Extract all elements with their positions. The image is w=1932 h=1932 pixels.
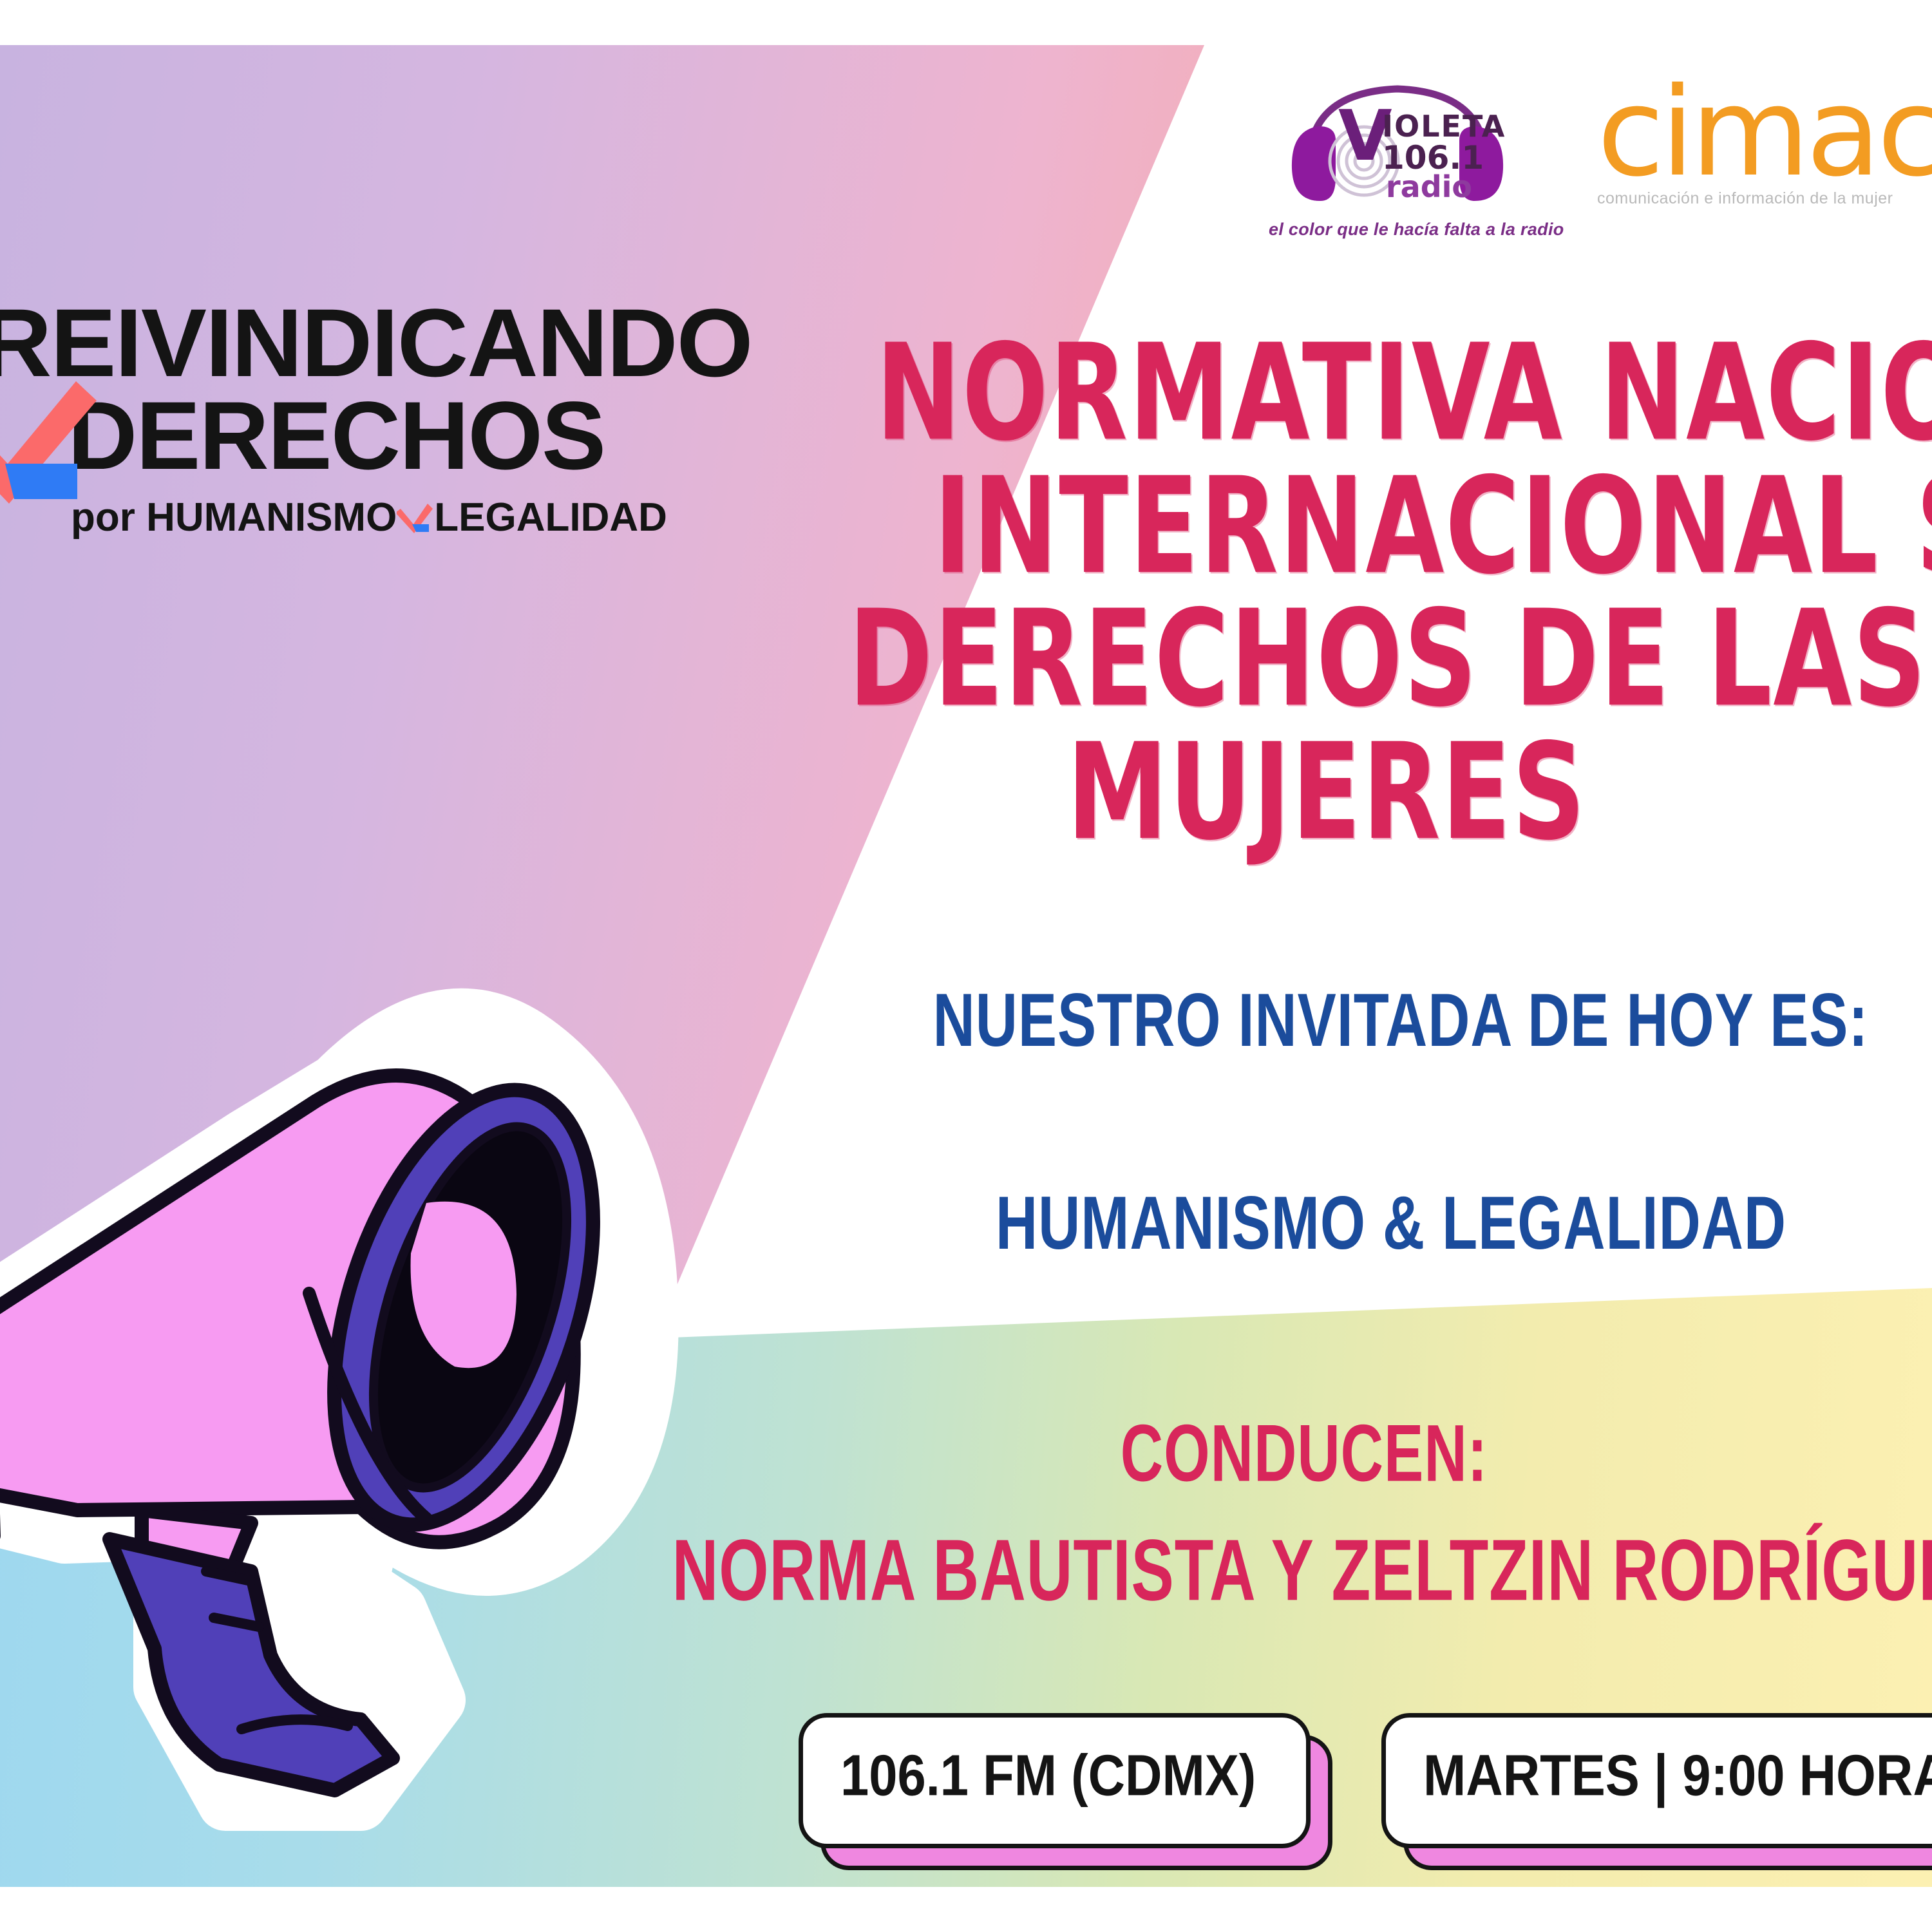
violeta-headphones-icon: V IOLETA 106.1 radio bbox=[1269, 64, 1526, 213]
guest-section: NUESTRO INVITADA DE HOY ES: HUMANISMO & … bbox=[927, 985, 1932, 1259]
poster-canvas: REIVINDICANDO DERECHOS por HUMANISMO LEG… bbox=[0, 0, 1932, 1932]
broadcast-badges: 106.1 FM (CDMX) MARTES | 9:00 HORAS bbox=[799, 1713, 1932, 1848]
badge-schedule-wrap: MARTES | 9:00 HORAS bbox=[1381, 1713, 1932, 1848]
main-title: NORMATIVA NACIONAL E INTERNACIONAL SOBRE… bbox=[914, 316, 1932, 848]
program-logo-ampersand-icon bbox=[397, 495, 434, 540]
hosts-names: NORMA BAUTISTA Y ZELTZIN RODRÍGUEZ bbox=[672, 1519, 1911, 1620]
badge-schedule[interactable]: MARTES | 9:00 HORAS bbox=[1381, 1713, 1932, 1848]
program-logo-subtitle-prefix: por HUMANISMO bbox=[71, 495, 397, 540]
badge-schedule-text: MARTES | 9:00 HORAS bbox=[1423, 1743, 1932, 1809]
svg-text:IOLETA: IOLETA bbox=[1382, 109, 1506, 144]
background-white-bottom-strip bbox=[0, 1887, 1932, 1932]
cimac-logo: cimac comunicación e información de la m… bbox=[1597, 64, 1932, 208]
program-logo-subtitle-suffix: LEGALIDAD bbox=[434, 495, 667, 540]
violeta-radio-logo: V IOLETA 106.1 radio el color que le hac… bbox=[1269, 64, 1526, 240]
sponsor-logos: V IOLETA 106.1 radio el color que le hac… bbox=[1269, 64, 1932, 240]
badge-frequency-wrap: 106.1 FM (CDMX) bbox=[799, 1713, 1311, 1848]
title-line-4: MUJERES bbox=[644, 715, 1932, 872]
cimac-wordmark: cimac bbox=[1597, 82, 1932, 183]
hosts-section: CONDUCEN: NORMA BAUTISTA Y ZELTZIN RODRÍ… bbox=[644, 1417, 1932, 1610]
guest-label: NUESTRO INVITADA DE HOY ES: bbox=[902, 978, 1900, 1064]
badge-frequency[interactable]: 106.1 FM (CDMX) bbox=[799, 1713, 1311, 1848]
program-logo-line1: REIVINDICANDO bbox=[0, 296, 749, 389]
violeta-tagline: el color que le hacía falta a la radio bbox=[1269, 220, 1526, 240]
megaphone-illustration-icon bbox=[0, 889, 708, 1842]
guest-name: HUMANISMO & LEGALIDAD bbox=[882, 1180, 1899, 1267]
program-logo-subtitle: por HUMANISMO LEGALIDAD bbox=[71, 495, 734, 540]
program-logo: REIVINDICANDO DERECHOS por HUMANISMO LEG… bbox=[0, 296, 734, 540]
hosts-label: CONDUCEN: bbox=[697, 1408, 1911, 1501]
svg-text:radio: radio bbox=[1386, 169, 1472, 204]
program-logo-line2: DERECHOS bbox=[68, 389, 734, 482]
background-white-top-strip bbox=[0, 0, 1932, 45]
badge-frequency-text: 106.1 FM (CDMX) bbox=[840, 1743, 1256, 1809]
cimac-tagline: comunicación e información de la mujer bbox=[1597, 189, 1932, 208]
